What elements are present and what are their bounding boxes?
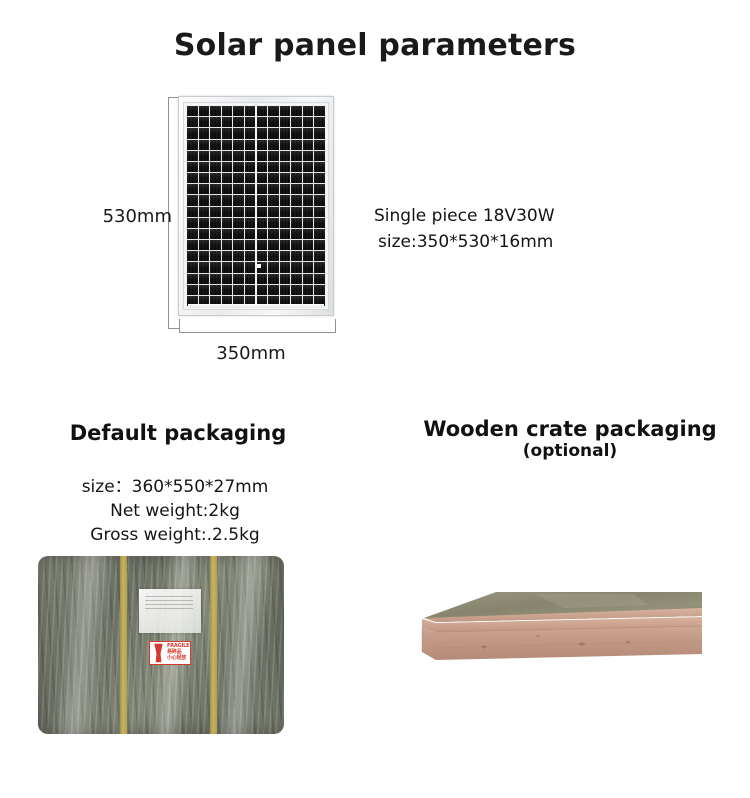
solar-cell [291,229,302,239]
solar-cell [291,195,302,205]
default-packaging-info: size：360*550*27mm Net weight:2kg Gross w… [30,475,320,547]
solar-cell [187,229,198,239]
solar-cell [187,162,198,172]
wood-knot [626,641,630,644]
solar-cell [256,162,267,172]
solar-cell [280,285,291,295]
solar-cell [268,117,279,127]
solar-cell [314,117,325,127]
solar-cell [291,184,302,194]
solar-cell [303,207,314,217]
page-title: Solar panel parameters [0,28,750,63]
solar-cell [187,262,198,272]
wooden-crate-heading-block: Wooden crate packaging (optional) [400,418,740,461]
solar-cell [314,229,325,239]
width-dimension-bracket [179,319,336,333]
solar-cell [256,184,267,194]
packing-strap [210,556,217,734]
solar-cell [280,195,291,205]
solar-cell [210,106,221,116]
solar-cell [233,207,244,217]
solar-panel-laminate [183,102,329,310]
solar-cell [199,240,210,250]
solar-cell [222,274,233,284]
solar-cell [245,140,256,150]
solar-cell [187,140,198,150]
solar-cell [245,229,256,239]
wood-knot [579,642,585,645]
solar-cell [268,128,279,138]
solar-cell [199,162,210,172]
solar-cell [314,285,325,295]
solar-cell [280,262,291,272]
package-size-text: size：360*550*27mm [30,475,320,499]
broken-glass-icon [152,642,165,664]
solar-cell [268,195,279,205]
solar-cell [233,162,244,172]
solar-cell [187,106,198,116]
solar-cell [268,218,279,228]
solar-cell [303,285,314,295]
solar-cell [280,251,291,261]
solar-cell [222,184,233,194]
panel-center-busbar [255,103,257,309]
height-dimension-label: 530mm [100,206,172,227]
panel-marker-dot [257,264,261,268]
solar-panel-frame [178,96,334,316]
solar-cell [187,240,198,250]
solar-cell [303,128,314,138]
solar-cell [291,262,302,272]
solar-cell [199,229,210,239]
solar-cell [210,285,221,295]
solar-cell [199,184,210,194]
solar-cell [303,140,314,150]
solar-cell [256,229,267,239]
solar-cell [233,251,244,261]
solar-cell [187,184,198,194]
solar-cell [314,240,325,250]
wood-knot [481,646,486,649]
solar-cell [291,207,302,217]
solar-cell [303,173,314,183]
solar-cell [210,140,221,150]
solar-cell [233,128,244,138]
solar-cell [222,240,233,250]
package-gross-weight-text: Gross weight:.2.5kg [30,523,320,547]
solar-cell [199,195,210,205]
solar-cell [210,251,221,261]
solar-cell [222,195,233,205]
solar-cell [233,262,244,272]
solar-cell [314,262,325,272]
solar-cell [233,151,244,161]
solar-cell [303,162,314,172]
solar-cell [245,262,256,272]
solar-cell [210,117,221,127]
wooden-crate-photo [414,578,702,660]
solar-cell [210,184,221,194]
solar-cell [187,251,198,261]
solar-cell [245,128,256,138]
solar-cell [256,151,267,161]
solar-cell [210,262,221,272]
solar-cell [314,251,325,261]
solar-cell [291,140,302,150]
solar-cell [268,207,279,217]
solar-cell [268,140,279,150]
solar-cell [256,274,267,284]
solar-cell [256,251,267,261]
width-dimension-label: 350mm [168,343,334,364]
solar-cell [291,218,302,228]
solar-cell [222,140,233,150]
solar-cell [210,128,221,138]
solar-cell [199,274,210,284]
package-net-weight-text: Net weight:2kg [30,499,320,523]
shipping-label [139,589,201,633]
solar-cell [280,218,291,228]
solar-cell [268,229,279,239]
solar-cell [291,274,302,284]
solar-cell [303,106,314,116]
solar-cell [291,251,302,261]
solar-cell [233,274,244,284]
solar-cell [280,106,291,116]
solar-cell [222,285,233,295]
solar-cell [280,207,291,217]
wrap-sheen [215,556,274,734]
solar-cell [256,207,267,217]
solar-cell [291,240,302,250]
solar-cell [233,229,244,239]
solar-cell [233,195,244,205]
solar-cell [199,262,210,272]
solar-cell [222,162,233,172]
solar-cell [256,218,267,228]
solar-cell [268,285,279,295]
solar-cell [303,117,314,127]
solar-cell [187,218,198,228]
solar-cell [199,207,210,217]
solar-cell [222,229,233,239]
solar-cell [268,240,279,250]
solar-cell [291,162,302,172]
solar-cell [280,117,291,127]
solar-cell [314,140,325,150]
solar-cell [187,117,198,127]
solar-cell [303,229,314,239]
solar-cell [210,207,221,217]
solar-cell [256,195,267,205]
solar-cell [314,218,325,228]
solar-cell [210,162,221,172]
solar-cell [199,173,210,183]
solar-cell [199,140,210,150]
default-packaging-heading: Default packaging [18,421,338,445]
solar-cell [256,106,267,116]
solar-cell [314,162,325,172]
solar-cell [199,218,210,228]
solar-cell [291,117,302,127]
solar-cell [303,218,314,228]
solar-cell [291,106,302,116]
solar-cell [256,285,267,295]
solar-cell [187,151,198,161]
solar-cell [233,240,244,250]
solar-cell [256,173,267,183]
solar-cell [210,218,221,228]
solar-cell [291,151,302,161]
solar-cell [210,151,221,161]
solar-cell [187,128,198,138]
solar-cell [268,106,279,116]
solar-cell [291,173,302,183]
solar-cell [222,218,233,228]
spec-size-line: size:350*530*16mm [374,229,555,255]
solar-cell [245,274,256,284]
solar-cell [303,274,314,284]
solar-cell [210,173,221,183]
solar-cell [314,106,325,116]
solar-cell [303,184,314,194]
solar-cell [245,195,256,205]
wooden-crate-heading: Wooden crate packaging [423,417,716,441]
solar-cell [187,173,198,183]
solar-cell [256,128,267,138]
solar-cell [210,274,221,284]
solar-cell [187,207,198,217]
solar-cell [222,106,233,116]
solar-cell [280,151,291,161]
solar-cell [314,173,325,183]
solar-cell [187,274,198,284]
solar-cell [222,207,233,217]
solar-cell [210,229,221,239]
solar-cell [280,274,291,284]
solar-cell [291,128,302,138]
solar-cell [245,218,256,228]
solar-cell [233,106,244,116]
solar-cell [210,195,221,205]
solar-cell [314,184,325,194]
solar-cell [245,117,256,127]
solar-cell [314,151,325,161]
solar-cell [256,140,267,150]
solar-cell [268,173,279,183]
shrink-wrapped-package-photo: FRAGILE 易碎品 小心轻放 [38,556,284,734]
solar-cell [280,140,291,150]
solar-cell [245,151,256,161]
packing-strap [120,556,127,734]
solar-cell [222,151,233,161]
solar-cell [187,285,198,295]
solar-cell [268,151,279,161]
solar-cell [199,285,210,295]
solar-cell [314,195,325,205]
fragile-sticker: FRAGILE 易碎品 小心轻放 [149,641,191,665]
solar-cell [210,240,221,250]
wooden-crate-drawing [414,578,702,660]
wrap-sheen [51,556,116,734]
solar-cell [280,240,291,250]
solar-cell [245,184,256,194]
solar-cell [280,128,291,138]
spec-model-line: Single piece 18V30W [374,203,555,229]
solar-cell [222,173,233,183]
solar-cell [280,184,291,194]
solar-cell [233,140,244,150]
solar-panel-figure [168,96,334,318]
solar-cell [245,207,256,217]
solar-cell [222,117,233,127]
solar-cell [245,240,256,250]
solar-cell [280,229,291,239]
solar-cell [256,117,267,127]
solar-cell [245,173,256,183]
solar-cell [303,151,314,161]
solar-cell [303,251,314,261]
solar-cell [268,251,279,261]
solar-cell [303,262,314,272]
solar-cell [199,251,210,261]
solar-cell [199,117,210,127]
solar-cell [222,128,233,138]
solar-cell [233,117,244,127]
solar-cell [233,285,244,295]
solar-cell [233,218,244,228]
fragile-line-3: 小心轻放 [167,656,190,662]
solar-cell [187,195,198,205]
solar-cell [245,285,256,295]
solar-cell [280,162,291,172]
solar-cell [222,251,233,261]
solar-cell [268,274,279,284]
wood-knot [536,635,540,637]
solar-cell [268,162,279,172]
solar-cell [245,106,256,116]
solar-cell [245,162,256,172]
solar-cell [268,184,279,194]
solar-cell [303,240,314,250]
fragile-sticker-text: FRAGILE 易碎品 小心轻放 [165,644,190,661]
solar-cell [314,207,325,217]
solar-cell [314,274,325,284]
wooden-crate-subheading: (optional) [400,442,740,461]
panel-bottom-bar [188,304,324,308]
panel-spec-block: Single piece 18V30W size:350*530*16mm [374,203,555,256]
solar-cell [233,184,244,194]
solar-cell [291,285,302,295]
solar-cell [268,262,279,272]
solar-cell [222,262,233,272]
solar-cell [199,151,210,161]
solar-cell [256,240,267,250]
solar-cell [314,128,325,138]
solar-cell [199,106,210,116]
solar-cell [233,173,244,183]
solar-cell [199,128,210,138]
solar-cell [303,195,314,205]
solar-cell [245,251,256,261]
solar-cell [280,173,291,183]
